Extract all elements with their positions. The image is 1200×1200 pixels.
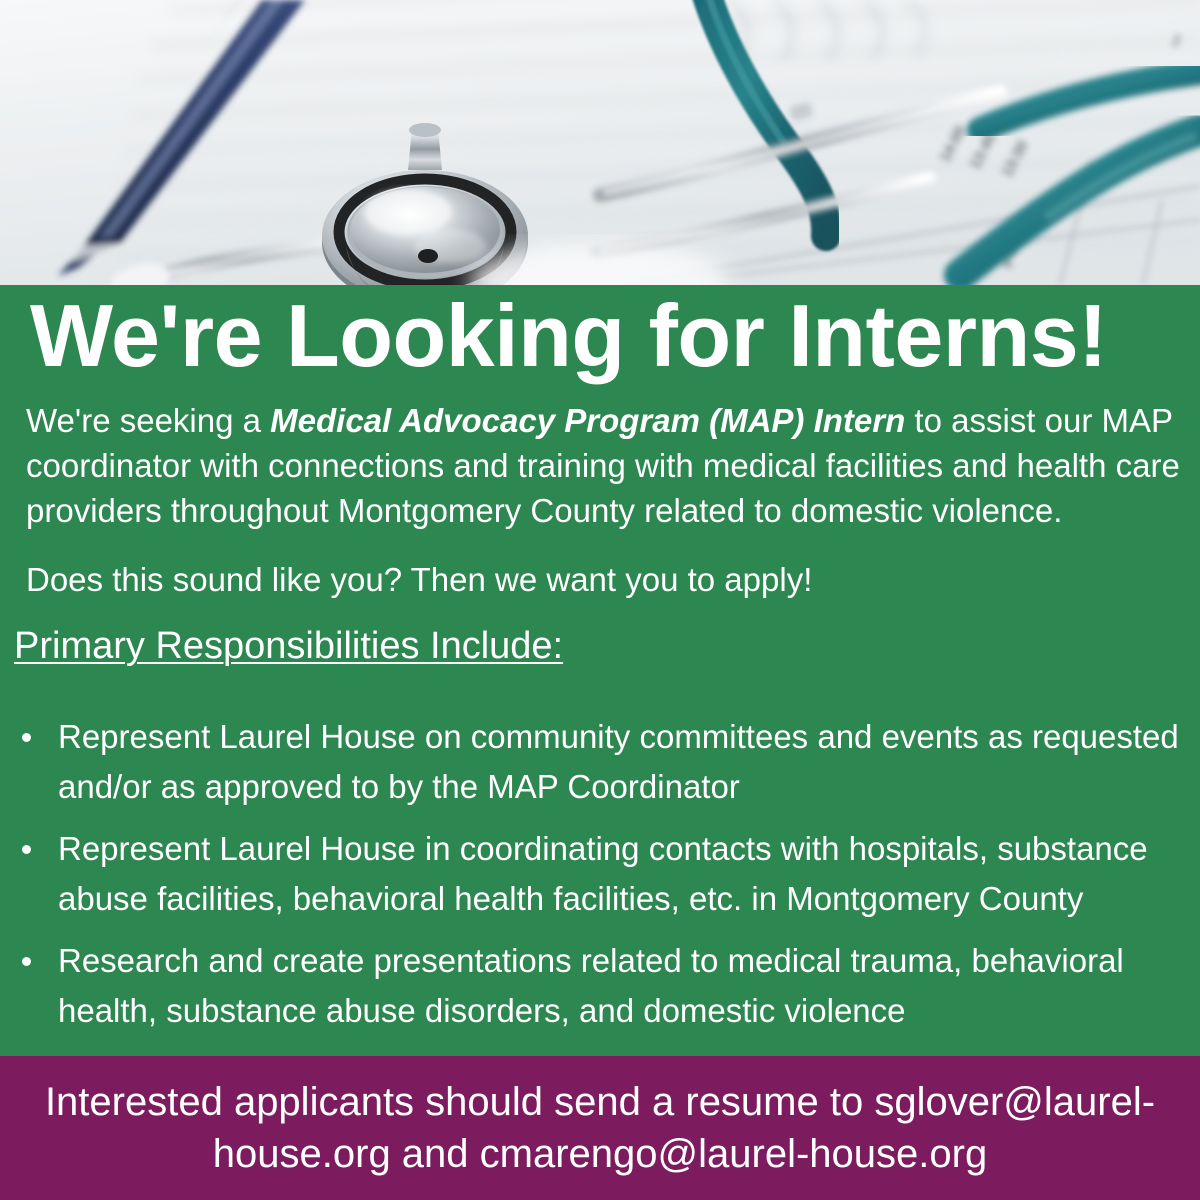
hero-photo: POZ 13:30 13:45 14:00 no: [0, 0, 1200, 285]
call-to-action-prompt: Does this sound like you? Then we want y…: [26, 558, 1176, 602]
role-title: Medical Advocacy Program (MAP) Intern: [270, 402, 905, 439]
list-item-text: Represent Laurel House in coordinating c…: [58, 830, 1148, 917]
list-item-text: Research and create presentations relate…: [58, 942, 1124, 1029]
page-title: We're Looking for Interns!: [30, 292, 1190, 380]
contact-instructions: Interested applicants should send a resu…: [14, 1076, 1186, 1180]
bullet-dot-icon: [22, 733, 31, 742]
list-item-text: Represent Laurel House on community comm…: [58, 718, 1179, 805]
bullet-dot-icon: [22, 845, 31, 854]
responsibilities-list: Represent Laurel House on community comm…: [0, 712, 1200, 1048]
stethoscope-photo-illustration: POZ 13:30 13:45 14:00 no: [0, 0, 1200, 285]
list-item: Represent Laurel House on community comm…: [0, 712, 1200, 812]
intro-paragraph: We're seeking a Medical Advocacy Program…: [26, 398, 1184, 533]
list-item: Represent Laurel House in coordinating c…: [0, 824, 1200, 924]
internship-flyer: POZ 13:30 13:45 14:00 no: [0, 0, 1200, 1200]
responsibilities-heading: Primary Responsibilities Include:: [14, 622, 563, 670]
list-item: Research and create presentations relate…: [0, 936, 1200, 1036]
intro-text-before: We're seeking a: [26, 402, 270, 439]
bullet-dot-icon: [22, 957, 31, 966]
